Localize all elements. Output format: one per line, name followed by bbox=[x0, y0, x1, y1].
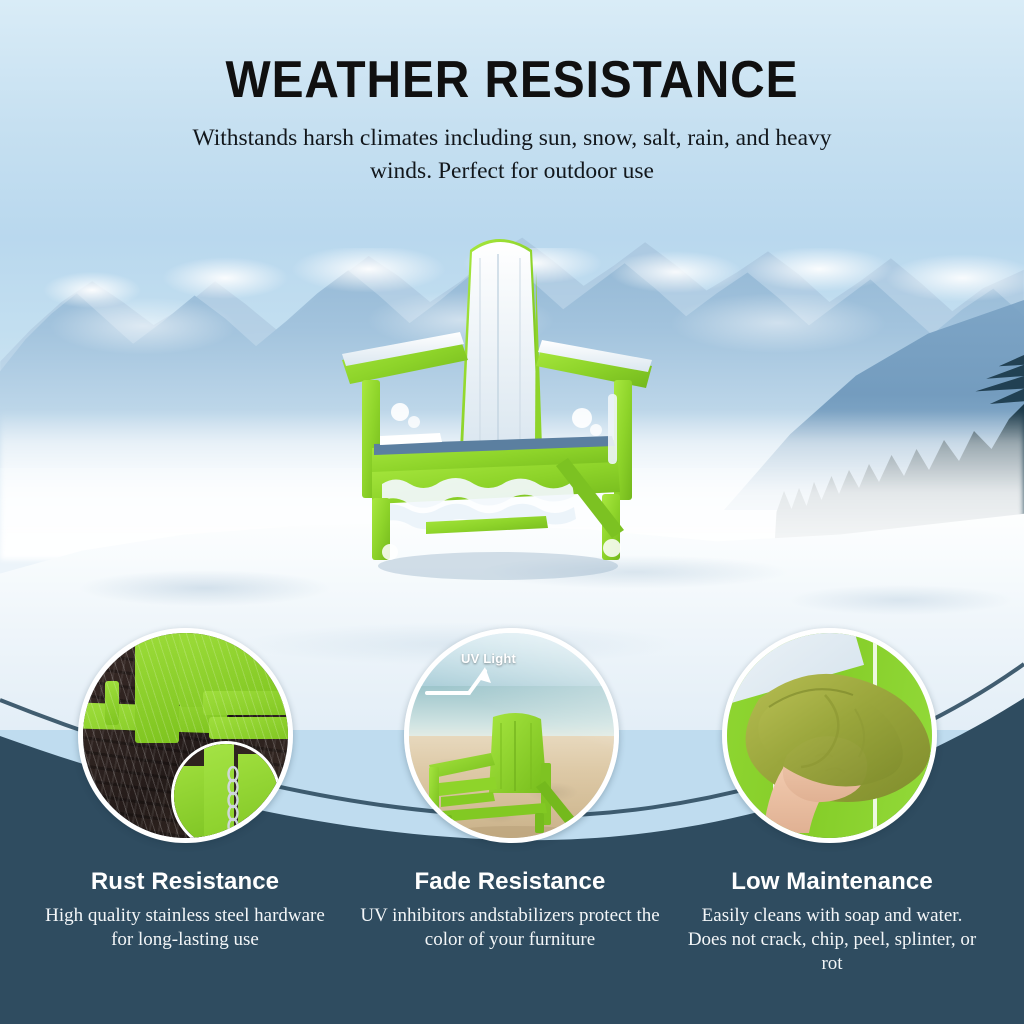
feature-image-fade-resistance: UV Light bbox=[404, 628, 619, 843]
feature-description: Easily cleans with soap and water. Does … bbox=[682, 904, 982, 976]
infographic-canvas: WEATHER RESISTANCE Withstands harsh clim… bbox=[0, 0, 1024, 1024]
hero-chair-image bbox=[330, 222, 660, 582]
uv-light-label: UV Light bbox=[461, 651, 516, 666]
hand-with-cloth-illustration bbox=[729, 647, 937, 837]
feature-title: Low Maintenance bbox=[682, 868, 982, 896]
feature-caption-rust-resistance: Rust Resistance High quality stainless s… bbox=[35, 868, 335, 952]
page-subtitle: Withstands harsh climates including sun,… bbox=[162, 122, 862, 188]
beach-chair-illustration bbox=[423, 709, 603, 841]
page-title: WEATHER RESISTANCE bbox=[41, 50, 983, 110]
feature-title: Rust Resistance bbox=[35, 868, 335, 896]
uv-light-arrow-icon bbox=[423, 663, 503, 709]
hardware-detail-inset bbox=[171, 741, 281, 843]
stainless-chain-icon bbox=[220, 766, 246, 843]
feature-title: Fade Resistance bbox=[360, 868, 660, 896]
feature-description: High quality stainless steel hardware fo… bbox=[35, 904, 335, 952]
feature-image-low-maintenance bbox=[722, 628, 937, 843]
feature-description: UV inhibitors andstabilizers protect the… bbox=[360, 904, 660, 952]
feature-caption-fade-resistance: Fade Resistance UV inhibitors andstabili… bbox=[360, 868, 660, 952]
feature-image-rust-resistance bbox=[78, 628, 293, 843]
feature-caption-low-maintenance: Low Maintenance Easily cleans with soap … bbox=[682, 868, 982, 976]
